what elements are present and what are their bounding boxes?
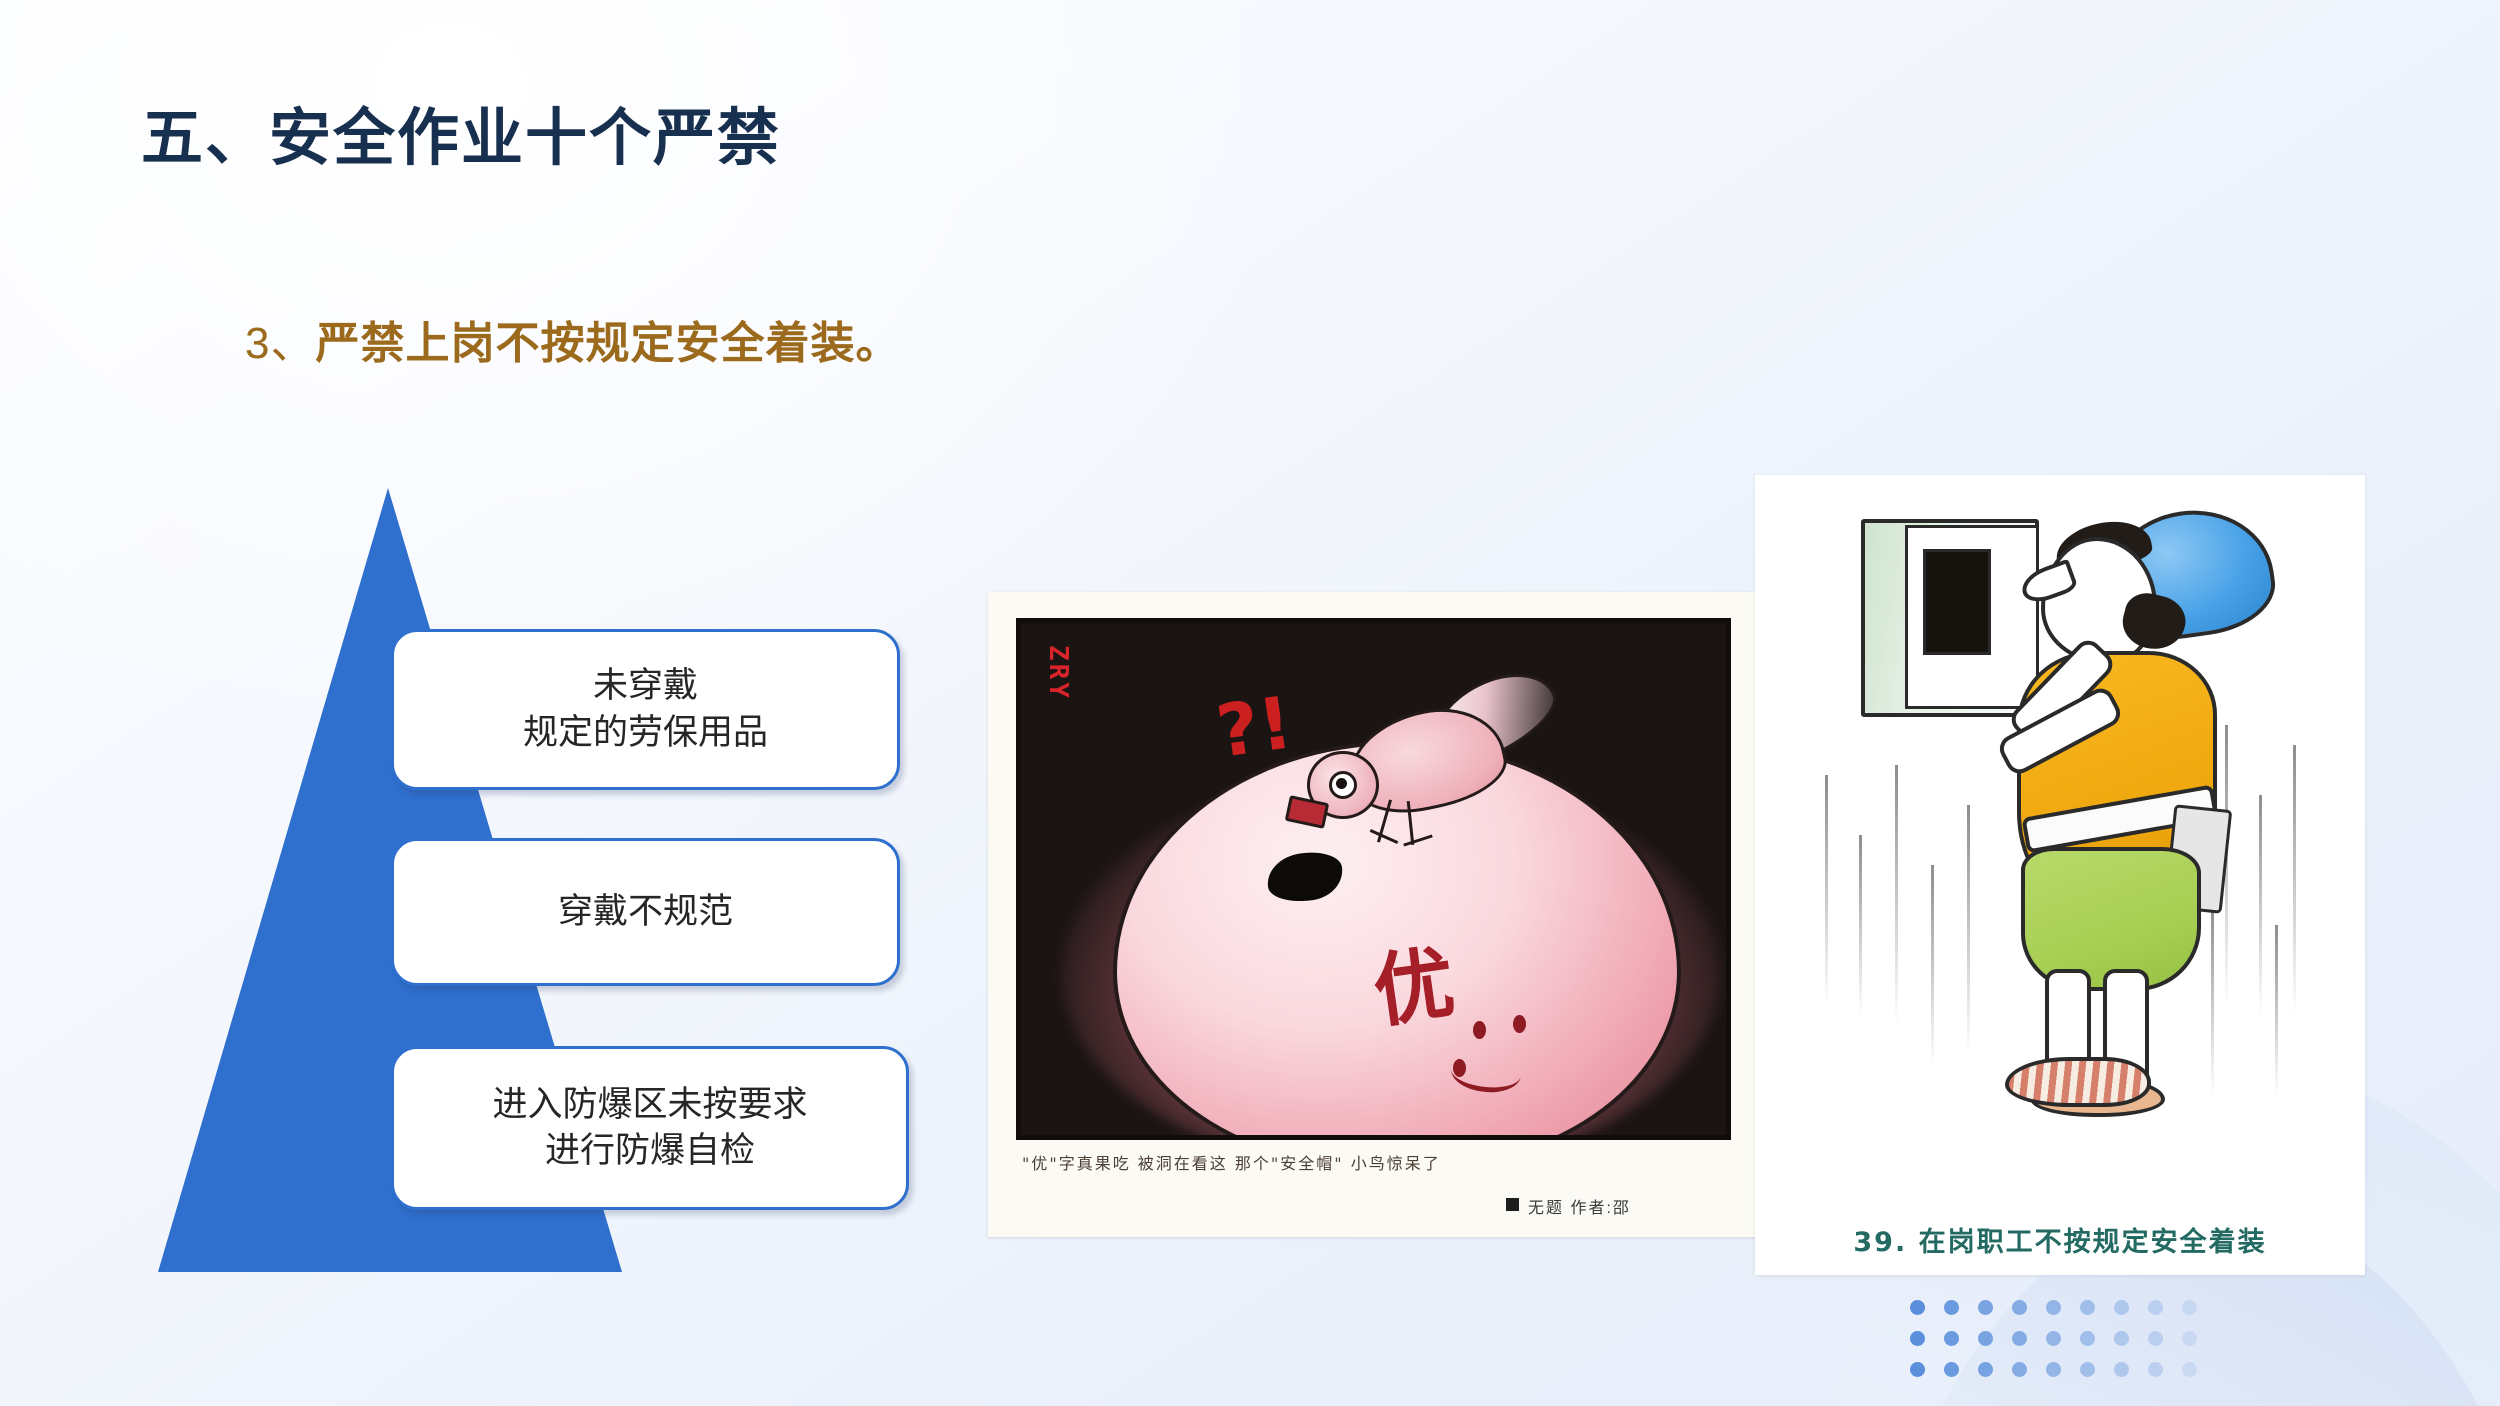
grid-dot [1910, 1331, 1925, 1346]
background-streak [1859, 835, 1862, 1015]
grid-dot [2114, 1362, 2129, 1377]
grid-dot [2114, 1300, 2129, 1315]
grid-dot [2080, 1300, 2095, 1315]
subtitle-number: 3、 [245, 319, 315, 368]
grid-dot [2182, 1300, 2197, 1315]
grid-dot [2046, 1331, 2061, 1346]
background-streak [2259, 795, 2262, 1015]
grid-dot [2046, 1362, 2061, 1377]
grid-dot [2012, 1362, 2027, 1377]
page-title: 五、安全作业十个严禁 [141, 108, 781, 170]
grid-dot [2080, 1331, 2095, 1346]
pyramid-box-3[interactable]: 进入防爆区未按要求 进行防爆自检 [391, 1046, 909, 1210]
cartoon-frame: 优 ?! ZRY [1016, 618, 1731, 1140]
egg-eye-dot-1 [1473, 1021, 1486, 1039]
section-subtitle: 3、严禁上岗不按规定安全着装。 [245, 322, 900, 366]
cartoon-image-egg-bird: 优 ?! ZRY "优"字真果吃 被洞在看这 那个"安全帽" 小鸟惊呆了 无题 … [988, 592, 1786, 1237]
grid-dot [2114, 1331, 2129, 1346]
grid-dot [1944, 1331, 1959, 1346]
cartoon-watermark-zry: ZRY [1043, 645, 1073, 701]
cartoon-caption-text: "优"字真果吃 被洞在看这 那个"安全帽" 小鸟惊呆了 [1022, 1150, 1441, 1174]
grid-dot [1910, 1300, 1925, 1315]
pyramid-box-2[interactable]: 穿戴不规范 [391, 838, 900, 986]
pyramid-box-3-line2: 进行防爆自检 [492, 1128, 807, 1174]
grid-dot [2182, 1362, 2197, 1377]
grid-dot [1910, 1362, 1925, 1377]
background-streak [1967, 805, 1970, 1055]
background-streak [1931, 865, 1934, 1065]
background-streak [2211, 905, 2214, 1095]
pyramid-box-1[interactable]: 未穿戴 规定的劳保用品 [391, 629, 900, 790]
pyramid-box-3-line1: 进入防爆区未按要求 [492, 1082, 807, 1128]
electrical-panel-interior [1923, 549, 1991, 655]
cartoon-image-worker-panel: 39. 在岗职工不按规定安全着装 [1755, 475, 2365, 1275]
cartoon-signature-text: 无题 作者:邵 [1528, 1194, 1631, 1218]
worker-cartoon-caption: 39. 在岗职工不按规定安全着装 [1755, 1220, 2365, 1259]
egg-eye-dot-2 [1513, 1015, 1526, 1033]
grid-dot [2012, 1331, 2027, 1346]
background-streak [2275, 925, 2278, 1095]
subtitle-text: 严禁上岗不按规定安全着装。 [315, 319, 900, 368]
grid-dot [2148, 1300, 2163, 1315]
egg-label-you: 优 [1365, 918, 1460, 1044]
background-streak [1825, 775, 1828, 1005]
grid-dot [2182, 1331, 2197, 1346]
bird-pupil [1336, 778, 1347, 789]
grid-dot [2012, 1300, 2027, 1315]
grid-dot [1944, 1362, 1959, 1377]
grid-dot [2080, 1362, 2095, 1377]
worker-sandal [2005, 1057, 2151, 1107]
cartoon-signature-square-icon [1506, 1198, 1519, 1211]
grid-dot [1978, 1331, 1993, 1346]
grid-dot [2148, 1331, 2163, 1346]
grid-dot [1978, 1362, 1993, 1377]
bird-exclamation-mark: ?! [1212, 680, 1298, 774]
grid-dot [2046, 1300, 2061, 1315]
grid-dot [2148, 1362, 2163, 1377]
pyramid-box-1-line2: 规定的劳保用品 [523, 710, 768, 756]
pyramid-box-1-line1: 未穿戴 [523, 663, 768, 709]
dot-grid-decoration [1910, 1300, 2216, 1393]
pyramid-box-2-line1: 穿戴不规范 [558, 889, 733, 935]
slide-canvas: 五、安全作业十个严禁 3、严禁上岗不按规定安全着装。 未穿戴 规定的劳保用品 穿… [0, 0, 2500, 1406]
background-streak [2293, 745, 2296, 1015]
grid-dot [1978, 1300, 1993, 1315]
background-streak [1895, 765, 1898, 1025]
grid-dot [1944, 1300, 1959, 1315]
